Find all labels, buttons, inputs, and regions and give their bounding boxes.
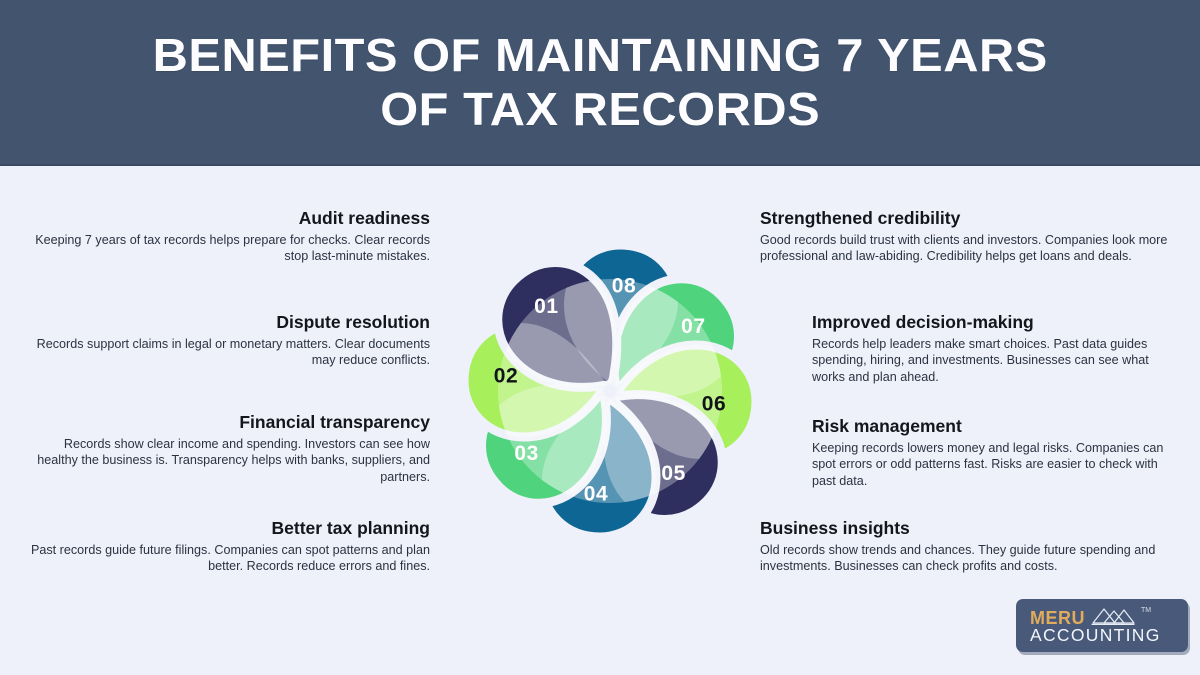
benefit-body-financial-transparency: Records show clear income and spending. …: [30, 436, 430, 485]
benefit-body-audit-readiness: Keeping 7 years of tax records helps pre…: [30, 232, 430, 265]
benefit-heading-improved-decision-making: Improved decision-making: [812, 312, 1180, 333]
pinwheel-number-02: 02: [494, 365, 519, 388]
trademark-icon: TM: [1141, 607, 1151, 614]
benefit-heading-risk-management: Risk management: [812, 416, 1180, 437]
benefit-block-better-tax-planning: Better tax planning Past records guide f…: [30, 518, 430, 575]
benefit-body-improved-decision-making: Records help leaders make smart choices.…: [812, 336, 1180, 385]
benefit-heading-financial-transparency: Financial transparency: [30, 412, 430, 433]
benefit-heading-better-tax-planning: Better tax planning: [30, 518, 430, 539]
benefit-body-risk-management: Keeping records lowers money and legal r…: [812, 440, 1180, 489]
benefit-block-audit-readiness: Audit readiness Keeping 7 years of tax r…: [30, 208, 430, 265]
benefit-block-dispute-resolution: Dispute resolution Records support claim…: [30, 312, 430, 369]
benefit-body-business-insights: Old records show trends and chances. The…: [760, 542, 1180, 575]
benefit-block-strengthened-credibility: Strengthened credibility Good records bu…: [760, 208, 1180, 265]
infographic-body: Audit readiness Keeping 7 years of tax r…: [0, 166, 1200, 675]
benefit-body-better-tax-planning: Past records guide future filings. Compa…: [30, 542, 430, 575]
benefit-heading-audit-readiness: Audit readiness: [30, 208, 430, 229]
header-banner: BENEFITS OF MAINTAINING 7 YEARS OF TAX R…: [0, 0, 1200, 166]
meru-accounting-logo: MERU TM ACCOUNTING: [1016, 599, 1188, 652]
benefit-block-business-insights: Business insights Old records show trend…: [760, 518, 1180, 575]
pinwheel-number-04: 04: [584, 483, 609, 506]
pinwheel-number-03: 03: [514, 442, 539, 465]
benefit-body-strengthened-credibility: Good records build trust with clients an…: [760, 232, 1180, 265]
benefit-heading-dispute-resolution: Dispute resolution: [30, 312, 430, 333]
pinwheel-number-01: 01: [534, 295, 559, 318]
page-title: BENEFITS OF MAINTAINING 7 YEARS OF TAX R…: [152, 28, 1047, 136]
benefit-body-dispute-resolution: Records support claims in legal or monet…: [30, 336, 430, 369]
benefit-block-financial-transparency: Financial transparency Records show clea…: [30, 412, 430, 485]
page-title-line-1: BENEFITS OF MAINTAINING 7 YEARS: [152, 29, 1047, 81]
pinwheel-number-06: 06: [702, 393, 727, 416]
benefit-heading-strengthened-credibility: Strengthened credibility: [760, 208, 1180, 229]
benefit-block-improved-decision-making: Improved decision-making Records help le…: [812, 312, 1180, 385]
logo-sub-text: ACCOUNTING: [1030, 625, 1161, 646]
pinwheel-number-05: 05: [661, 462, 686, 485]
pinwheel-number-07: 07: [681, 315, 706, 338]
benefit-heading-business-insights: Business insights: [760, 518, 1180, 539]
pinwheel-diagram: 0807060504030201: [400, 181, 820, 601]
pinwheel-number-08: 08: [612, 275, 637, 298]
page-title-line-2: OF TAX RECORDS: [152, 82, 1047, 136]
benefit-block-risk-management: Risk management Keeping records lowers m…: [812, 416, 1180, 489]
